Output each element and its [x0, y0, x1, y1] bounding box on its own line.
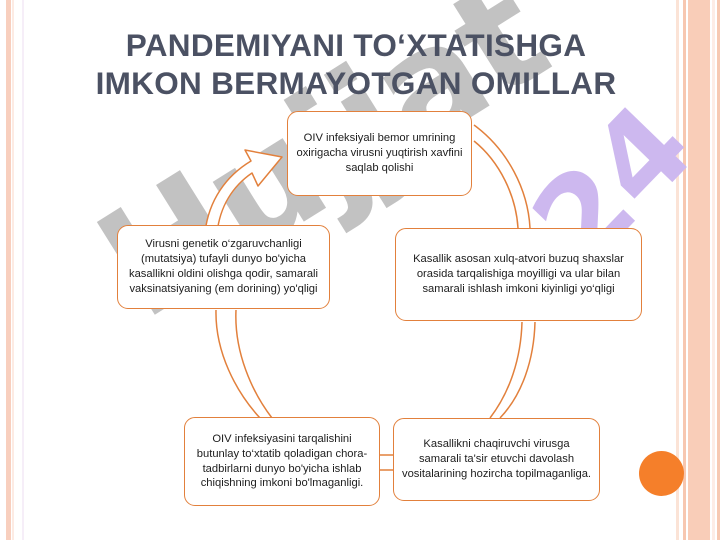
cycle-node-bottom-left[interactable]: OIV infeksiyasini tarqalishini butunlay …	[184, 417, 380, 506]
page-title: PANDEMIYANI TO‘XTATISHGA IMKON BERMAYOTG…	[36, 26, 676, 103]
cycle-node-bottom-right[interactable]: Kasallikni chaqiruvchi virusga samarali …	[393, 418, 600, 501]
cycle-node-bottom-right-text: Kasallikni chaqiruvchi virusga samarali …	[401, 437, 592, 482]
slide-canvas: Hujjat 24 PANDEMIYANI TO‘XTATISHGA IMKON…	[0, 0, 720, 540]
cycle-node-top[interactable]: OIV infeksiyali bemor umrining oxirigach…	[287, 111, 472, 196]
cycle-node-left-text: Virusni genetik o‘zgaruvchanligi (mutats…	[125, 237, 322, 297]
arrow-left-to-top	[205, 150, 282, 233]
page-title-line-2: IMKON BERMAYOTGAN OMILLAR	[36, 64, 676, 102]
cycle-node-top-text: OIV infeksiyali bemor umrining oxirigach…	[295, 131, 464, 176]
cycle-node-left[interactable]: Virusni genetik o‘zgaruvchanligi (mutats…	[117, 225, 330, 309]
arrow-right-to-bottomright	[500, 322, 535, 418]
arrow-right-to-bottomright-b	[490, 322, 522, 418]
cycle-node-bottom-left-text: OIV infeksiyasini tarqalishini butunlay …	[192, 432, 372, 492]
page-title-line-1: PANDEMIYANI TO‘XTATISHGA	[36, 26, 676, 64]
cycle-node-right[interactable]: Kasallik asosan xulq-atvori buzuq shaxsl…	[395, 228, 642, 321]
cycle-node-right-text: Kasallik asosan xulq-atvori buzuq shaxsl…	[403, 252, 634, 297]
arrow-bottomleft-to-left	[216, 310, 260, 418]
arrow-bottomright-to-bottomleft	[380, 455, 393, 470]
arrow-top-to-right	[474, 125, 530, 228]
arrow-bottomleft-to-left-b	[236, 310, 272, 418]
arrow-top-to-right-b	[474, 141, 518, 228]
